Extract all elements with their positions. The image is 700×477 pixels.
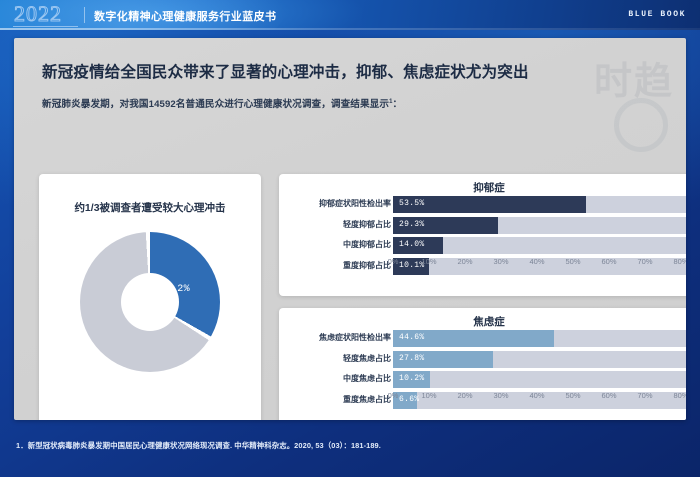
page-subtitle: 新冠肺炎暴发期，对我国14592名普通民众进行心理健康状况调查，调查结果显示1：: [42, 96, 402, 110]
axis-tick-label: 10%: [421, 391, 436, 400]
bar-row: 轻度焦虑占比27.8%: [279, 351, 686, 368]
depression-chart-panel: 抑郁症 抑郁症状阳性检出率53.5%轻度抑郁占比29.3%中度抑郁占比14.0%…: [279, 174, 686, 296]
bar-track: 44.6%: [393, 330, 686, 347]
axis-tick-label: 60%: [601, 391, 616, 400]
bar-fill: 10.2%: [393, 371, 430, 388]
bar-value-label: 10.2%: [399, 374, 425, 383]
donut-chart-panel: 约1/3被调查者遭受较大心理冲击 33.2%: [39, 174, 261, 420]
bar-value-label: 14.0%: [399, 240, 425, 249]
bar-track: 14.0%: [393, 237, 686, 254]
bar-fill: 27.8%: [393, 351, 493, 368]
bar-track: 53.5%: [393, 196, 686, 213]
watermark-ring-icon: [614, 98, 668, 152]
app-header: 2022 数字化精神心理健康服务行业蓝皮书 BLUE BOOK: [0, 0, 700, 30]
bar-value-label: 53.5%: [399, 199, 425, 208]
bar-row: 中度抑郁占比14.0%: [279, 237, 686, 254]
bar-category-label: 重度焦虑占比: [343, 394, 391, 405]
bar-category-label: 重度抑郁占比: [343, 260, 391, 271]
bar-fill: 14.0%: [393, 237, 443, 254]
axis-tick-label: 60%: [601, 257, 616, 266]
donut-hole: [121, 273, 179, 331]
donut-chart-title: 约1/3被调查者遭受较大心理冲击: [39, 200, 261, 215]
bar-track: 10.2%: [393, 371, 686, 388]
axis-tick-label: 50%: [565, 391, 580, 400]
bar-category-label: 中度抑郁占比: [343, 239, 391, 250]
bar-row: 焦虑症状阳性检出率44.6%: [279, 330, 686, 347]
bar-row: 抑郁症状阳性检出率53.5%: [279, 196, 686, 213]
bar-fill: 29.3%: [393, 217, 498, 234]
bar-category-label: 焦虑症状阳性检出率: [319, 332, 391, 343]
bar-track: 29.3%: [393, 217, 686, 234]
bar-value-label: 29.3%: [399, 220, 425, 229]
axis-tick-label: 20%: [457, 391, 472, 400]
axis-tick-label: 80%: [673, 391, 686, 400]
bar-fill: 44.6%: [393, 330, 554, 347]
header-year-underline: [13, 26, 78, 27]
page-subtitle-text: 新冠肺炎暴发期，对我国14592名普通民众进行心理健康状况调查，调查结果显示: [42, 99, 389, 110]
bar-category-label: 中度焦虑占比: [343, 373, 391, 384]
depression-chart-xaxis: 0%10%20%30%40%50%60%70%80%90%100%: [393, 257, 686, 269]
bar-category-label: 轻度抑郁占比: [343, 219, 391, 230]
bar-value-label: 27.8%: [399, 354, 425, 363]
bar-track: 27.8%: [393, 351, 686, 368]
donut-chart: 33.2%: [80, 232, 220, 372]
axis-tick-label: 50%: [565, 257, 580, 266]
axis-tick-label: 20%: [457, 257, 472, 266]
bar-row: 轻度抑郁占比29.3%: [279, 217, 686, 234]
page-subtitle-colon: ：: [393, 99, 403, 110]
anxiety-chart-title: 焦虑症: [279, 314, 686, 329]
axis-tick-label: 30%: [493, 391, 508, 400]
slide-content-card: 时趋 时趋 新冠疫情给全国民众带来了显著的心理冲击，抑郁、焦虑症状尤为突出 新冠…: [14, 38, 686, 420]
page-title: 新冠疫情给全国民众带来了显著的心理冲击，抑郁、焦虑症状尤为突出: [42, 60, 529, 82]
donut-value-label: 33.2%: [158, 284, 190, 295]
axis-tick-label: 70%: [637, 257, 652, 266]
header-title: 数字化精神心理健康服务行业蓝皮书: [94, 8, 276, 24]
anxiety-chart-xaxis: 0%10%20%30%40%50%60%70%80%90%100%: [393, 391, 686, 403]
bar-value-label: 44.6%: [399, 333, 425, 342]
bar-category-label: 抑郁症状阳性检出率: [319, 198, 391, 209]
axis-tick-label: 0%: [388, 391, 399, 400]
axis-tick-label: 80%: [673, 257, 686, 266]
axis-tick-label: 30%: [493, 257, 508, 266]
axis-tick-label: 0%: [388, 257, 399, 266]
axis-tick-label: 40%: [529, 391, 544, 400]
axis-tick-label: 10%: [421, 257, 436, 266]
axis-tick-label: 70%: [637, 391, 652, 400]
footnote-reference: 1．新型冠状病毒肺炎暴发期中国居民心理健康状况网络现况调查. 中华精神科杂志。2…: [16, 440, 381, 451]
anxiety-chart-panel: 焦虑症 焦虑症状阳性检出率44.6%轻度焦虑占比27.8%中度焦虑占比10.2%…: [279, 308, 686, 420]
axis-tick-label: 40%: [529, 257, 544, 266]
header-brand-label: BLUE BOOK: [628, 10, 686, 19]
header-divider: [84, 7, 85, 23]
bar-category-label: 轻度焦虑占比: [343, 353, 391, 364]
depression-chart-title: 抑郁症: [279, 180, 686, 195]
bar-row: 中度焦虑占比10.2%: [279, 371, 686, 388]
header-year: 2022: [14, 1, 62, 27]
bar-fill: 53.5%: [393, 196, 586, 213]
